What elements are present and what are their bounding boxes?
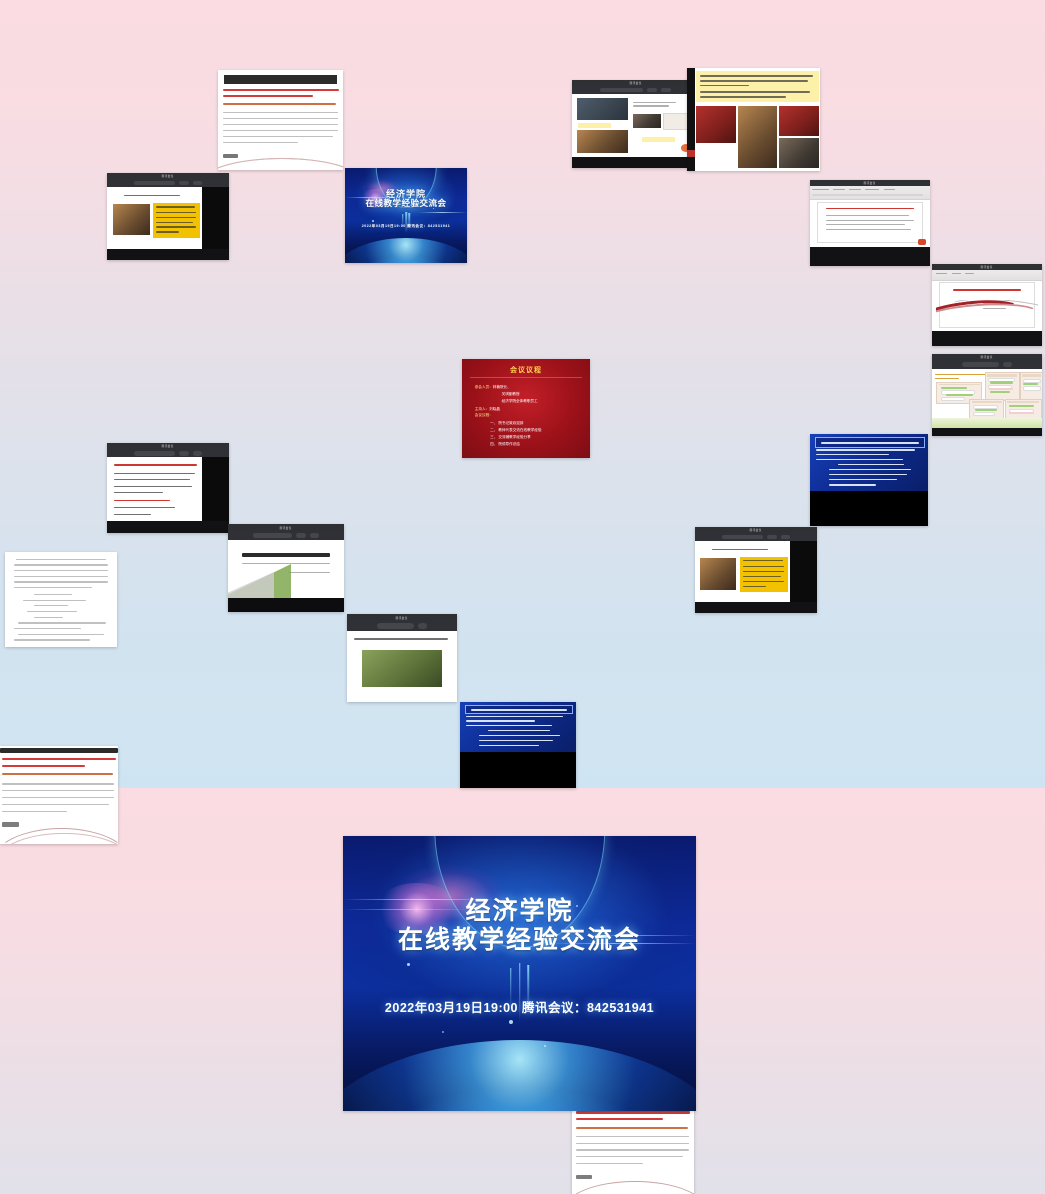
toolbar-pill[interactable] — [134, 181, 175, 185]
hero-title-line2: 在线教学经验交流会 — [343, 920, 696, 956]
doc-headline-line — [2, 765, 85, 767]
decorative-shape — [228, 572, 274, 598]
toolbar-pill[interactable] — [418, 623, 427, 628]
toolbar-pill[interactable] — [1003, 362, 1012, 367]
toolbar-pill[interactable] — [377, 623, 414, 628]
hero-meta: 2022年03月19日19:00 腾讯会议：842531941 — [343, 997, 696, 1016]
chat-card — [985, 372, 1020, 401]
doc-subline — [223, 103, 336, 105]
doc-red-heading — [826, 208, 913, 210]
conference-photo — [779, 138, 819, 168]
agenda-row: 参会人员：林楠院长、 — [475, 385, 511, 390]
toolbar-pill[interactable] — [253, 533, 292, 538]
toolbar-pill[interactable] — [193, 451, 203, 455]
thumb-title-line2: 在线教学经验交流会 — [345, 197, 467, 209]
screenshare-thumbnail-chat-collage[interactable]: 腾讯会议 — [932, 354, 1042, 436]
slide-thumbnail-multiplatform-bottom[interactable] — [460, 702, 576, 788]
toolbar-pill[interactable] — [767, 535, 777, 539]
conference-photo — [779, 106, 819, 136]
slide-thumbnail-conference-photos[interactable] — [687, 68, 820, 171]
toolbar-pill[interactable] — [647, 88, 657, 92]
toolbar-pill[interactable] — [600, 88, 643, 92]
toolbar-pill[interactable] — [722, 535, 763, 539]
doc-headline-line — [576, 1118, 664, 1120]
screenshare-thumbnail-yellow-box-2[interactable]: 腾讯会议 — [695, 527, 817, 613]
document-thumbnail-notice-2[interactable] — [0, 746, 118, 844]
toolbar-pill[interactable] — [193, 181, 203, 185]
doc-subline — [2, 773, 113, 775]
slide-thumbnail-multiplatform-right[interactable] — [810, 434, 928, 526]
agenda-row: 会议议程： — [475, 413, 493, 418]
document-page — [939, 282, 1036, 328]
document-page — [817, 202, 923, 244]
office-document-thumbnail-cover[interactable]: 腾讯会议 — [932, 264, 1042, 346]
toolbar-pill[interactable] — [661, 88, 671, 92]
content-photo — [577, 130, 628, 154]
slide-thumbnail-report-cover[interactable]: 腾讯会议 — [228, 524, 344, 612]
agenda-row: 经济学院全体教职员工 — [502, 399, 538, 404]
document-thumbnail-plain-text[interactable] — [5, 552, 117, 647]
chat-card — [1020, 372, 1042, 401]
toolbar-pill[interactable] — [296, 533, 305, 538]
agenda-row: 关琪副教授 — [502, 392, 520, 397]
content-red-heading — [114, 464, 197, 466]
classroom-photo — [362, 650, 441, 687]
slide-heading-bar — [815, 437, 926, 448]
doc-subline — [576, 1127, 688, 1129]
conference-photo — [696, 106, 736, 143]
content-yellow-box — [740, 557, 788, 592]
content-photo — [113, 204, 150, 235]
doc-headline-line — [223, 89, 339, 91]
slide-letterbox — [810, 491, 928, 526]
meeting-slide-thumbnail[interactable]: 经济学院 在线教学经验交流会 2022年03月19日19:00 腾讯会议：842… — [345, 168, 467, 263]
thumb-meta: 2022年03月19日19:00 腾讯会议：842531941 — [345, 224, 467, 229]
main-meeting-slide[interactable]: 经济学院 在线教学经验交流会 2022年03月19日19:00 腾讯会议：842… — [343, 836, 696, 1111]
content-photo — [700, 558, 737, 590]
report-title-line — [242, 553, 330, 557]
share-content — [572, 94, 699, 157]
doc-red-heading — [953, 289, 1021, 291]
doc-headline-line — [223, 95, 313, 97]
agenda-row: 一、 院书记致欢迎辞 — [490, 421, 523, 426]
toolbar-pill[interactable] — [781, 535, 791, 539]
screenshare-thumbnail-yellow-box[interactable]: 腾讯会议 — [107, 173, 229, 260]
share-toolbar[interactable] — [572, 86, 699, 94]
toolbar-pill[interactable] — [179, 451, 189, 455]
slide-heading-bar — [465, 705, 574, 714]
agenda-row: 主持人：刘晓晶 — [475, 407, 500, 412]
office-badge — [918, 239, 926, 244]
toolbar-pill[interactable] — [134, 451, 175, 455]
office-document-thumbnail-bullets[interactable]: 腾讯会议 — [810, 180, 930, 266]
document-thumbnail-notice[interactable] — [218, 70, 343, 170]
slide-heading-line — [354, 638, 449, 640]
doc-header-bar — [224, 75, 337, 84]
content-yellow-box — [153, 203, 199, 238]
slide-thumbnail-classroom-photo[interactable]: 腾讯会议 — [347, 614, 457, 702]
agenda-slide[interactable]: 会议议程 参会人员：林楠院长、 关琪副教授 经济学院全体教职员工 主持人：刘晓晶… — [462, 359, 590, 458]
agenda-row: 三、 交流辅教学经验分享 — [490, 435, 531, 440]
document-thumbnail-notice-3[interactable] — [572, 1099, 694, 1194]
content-caption-box — [642, 137, 675, 143]
doc-headline-line — [2, 758, 115, 760]
slide-text-box — [696, 71, 818, 102]
doc-headline-line — [576, 1111, 691, 1113]
content-caption-box — [578, 123, 611, 128]
toolbar-pill[interactable] — [310, 533, 319, 538]
conference-photo — [738, 106, 778, 168]
agenda-row: 四、 院领导作总结 — [490, 442, 520, 447]
content-photo — [577, 98, 628, 121]
agenda-row: 二、 教师代表交流在线教学经验 — [490, 428, 541, 433]
screenshare-thumbnail-red-text[interactable]: 腾讯会议 — [107, 443, 229, 533]
collage-canvas: 经济学院 在线教学经验交流会 2022年03月19日19:00 腾讯会议：842… — [0, 0, 1045, 788]
content-photo — [633, 114, 661, 128]
slide-letterbox — [460, 752, 576, 788]
toolbar-pill[interactable] — [179, 181, 189, 185]
toolbar-pill[interactable] — [962, 362, 999, 367]
screenshare-thumbnail-photos[interactable]: 腾讯会议 — [572, 80, 699, 168]
agenda-title: 会议议程 — [462, 365, 590, 375]
